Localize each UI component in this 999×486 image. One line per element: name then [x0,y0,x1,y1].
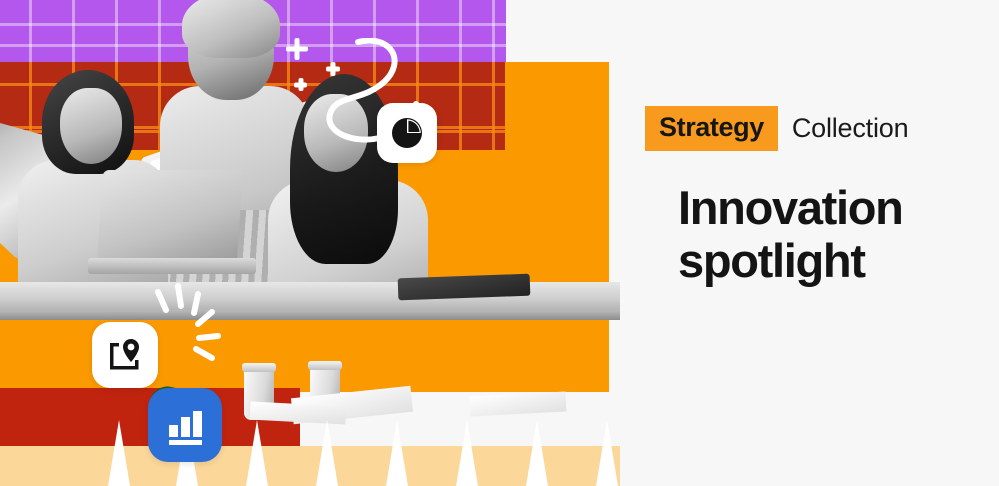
strategy-badge: Strategy [645,106,778,151]
person-left-face [60,88,122,164]
paper-sheet [470,392,567,417]
banner: Strategy Collection Innovation spotlight [0,0,999,486]
pie-chart-icon [390,116,424,150]
wedge [108,420,130,486]
collage-artwork [0,0,620,486]
wedge [526,420,548,486]
wedge-stripes [0,420,620,486]
tablet-device [398,274,531,301]
wedge [596,420,618,486]
wedge [316,420,338,486]
laptop-base [88,258,256,274]
text-panel: Strategy Collection Innovation spotlight [620,0,999,486]
person-center-turban [182,0,280,58]
laptop-screen [97,170,243,262]
bar-chart-badge[interactable] [148,388,222,462]
kicker-row: Strategy Collection [645,106,908,151]
orange-block-right [505,62,609,392]
wedge [246,420,268,486]
map-pin-badge[interactable] [92,322,158,388]
headline-line-2: spotlight [678,235,998,288]
pie-chart-badge[interactable] [377,103,437,163]
bar-chart-icon [163,403,207,447]
headline: Innovation spotlight [678,182,998,287]
map-pin-icon [105,335,145,375]
collection-label: Collection [792,113,909,144]
wedge [456,420,478,486]
wedge [386,420,408,486]
desk-edge [0,310,620,320]
headline-line-1: Innovation [678,182,998,235]
